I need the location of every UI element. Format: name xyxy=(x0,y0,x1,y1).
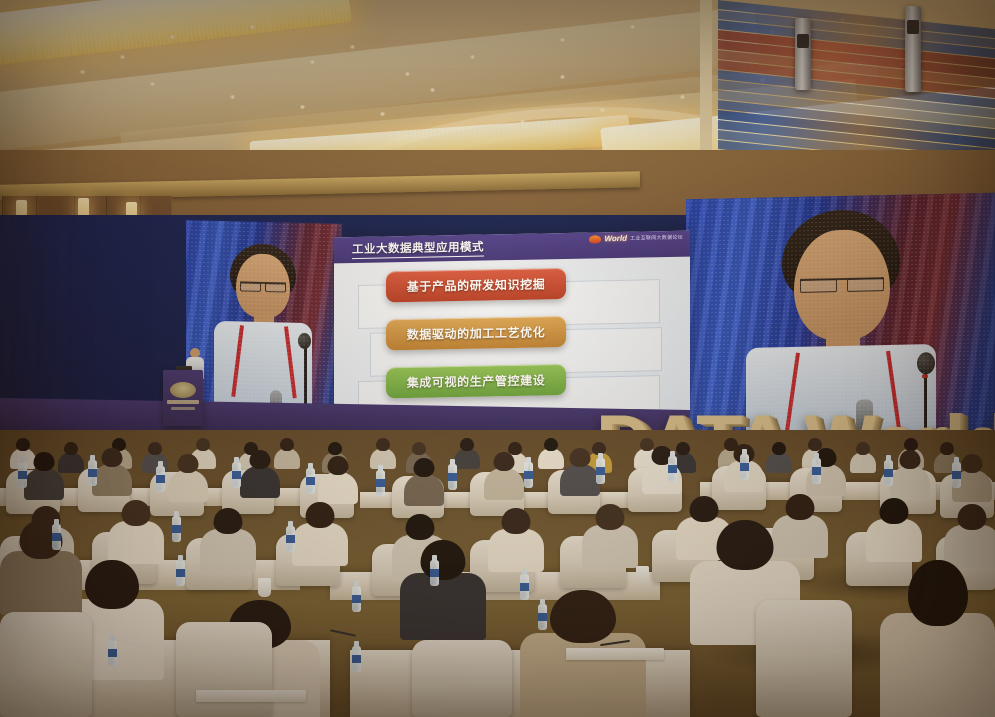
hanging-speaker-icon xyxy=(905,6,921,92)
water-bottle xyxy=(524,462,533,488)
audience-member xyxy=(484,452,524,498)
slide-logo-wordmark: World xyxy=(604,234,627,243)
downlight-icon xyxy=(630,25,635,29)
water-bottle xyxy=(232,462,241,488)
chandelier-strip-left xyxy=(0,0,352,66)
downlight-icon xyxy=(560,75,565,79)
audience-member xyxy=(370,438,396,468)
podium-logo xyxy=(170,382,196,398)
downlight-icon xyxy=(300,105,305,109)
downlight-icon xyxy=(405,72,410,76)
audience-member xyxy=(454,438,480,468)
slide-bullet-box-2: 数据驱动的加工工艺优化 xyxy=(386,316,566,350)
paper-cup xyxy=(258,578,271,597)
audience-member xyxy=(240,450,280,496)
downlight-icon xyxy=(680,95,685,99)
paper-cup xyxy=(636,566,649,585)
podium xyxy=(163,370,203,426)
water-bottle xyxy=(376,470,385,496)
water-bottle xyxy=(352,586,361,612)
water-bottle xyxy=(18,462,27,488)
downlight-icon xyxy=(470,55,475,59)
audience-member xyxy=(400,540,486,636)
hanging-speaker-icon xyxy=(795,18,811,90)
audience-member xyxy=(168,454,208,500)
water-bottle xyxy=(430,560,439,586)
downlight-icon xyxy=(80,70,85,74)
water-bottle xyxy=(52,524,61,550)
audience-member xyxy=(0,520,82,612)
water-bottle xyxy=(448,464,457,490)
audience-member xyxy=(880,560,995,717)
water-bottle xyxy=(352,646,361,672)
water-bottle xyxy=(952,462,961,488)
water-bottle xyxy=(812,458,821,484)
water-bottle xyxy=(108,640,117,666)
water-bottle xyxy=(156,466,165,492)
downlight-icon xyxy=(600,108,605,112)
audience-member xyxy=(488,508,544,570)
chair xyxy=(176,622,272,717)
water-bottle xyxy=(306,468,315,494)
slide-title: 工业大数据典型应用模式 xyxy=(352,239,484,260)
slide-bullet-box-1: 基于产品的研发知识挖掘 xyxy=(386,268,566,302)
audience-member xyxy=(292,502,348,564)
downlight-icon xyxy=(350,45,355,49)
notepad xyxy=(566,648,664,660)
audience-member xyxy=(866,498,922,560)
slide-bullet-box-3: 集成可视的生产管控建设 xyxy=(386,364,566,398)
audience-member xyxy=(850,442,876,472)
water-bottle xyxy=(538,604,547,630)
flame-icon xyxy=(589,235,601,243)
downlight-icon xyxy=(120,55,125,59)
audience-member xyxy=(890,450,930,496)
chair xyxy=(756,600,852,717)
water-bottle xyxy=(596,458,605,484)
water-bottle xyxy=(88,460,97,486)
downlight-icon xyxy=(520,120,525,124)
water-bottle xyxy=(520,574,529,600)
conference-hall-photo: 工业大数据典型应用模式 World 工业互联网大数据论坛 基于产品的研发知识挖掘… xyxy=(0,0,995,717)
water-bottle xyxy=(176,560,185,586)
audience-member xyxy=(24,452,64,498)
audience-member xyxy=(108,500,164,562)
water-bottle xyxy=(884,460,893,486)
downlight-icon xyxy=(170,35,175,39)
downlight-icon xyxy=(310,60,315,64)
downlight-icon xyxy=(560,38,565,42)
downlight-icon xyxy=(230,95,235,99)
audience-member xyxy=(944,504,995,566)
downlight-icon xyxy=(430,88,435,92)
left-led-screen xyxy=(186,220,342,422)
audience-member xyxy=(404,458,444,504)
water-bottle xyxy=(286,526,295,552)
notepad xyxy=(196,690,306,702)
slide-logo: World 工业互联网大数据论坛 xyxy=(589,233,683,244)
audience-member xyxy=(766,442,792,472)
downlight-icon xyxy=(250,25,255,29)
slide-logo-subtitle: 工业互联网大数据论坛 xyxy=(630,234,683,242)
audience-member xyxy=(200,508,256,570)
audience-member xyxy=(582,504,638,566)
downlight-icon xyxy=(380,112,385,116)
downlight-icon xyxy=(150,82,155,86)
chair xyxy=(412,640,512,717)
chair xyxy=(0,612,92,717)
water-bottle xyxy=(740,454,749,480)
audience-member xyxy=(92,448,132,494)
audience-member xyxy=(560,448,600,494)
water-bottle xyxy=(172,516,181,542)
water-bottle xyxy=(668,456,677,482)
audience-member xyxy=(318,456,358,502)
